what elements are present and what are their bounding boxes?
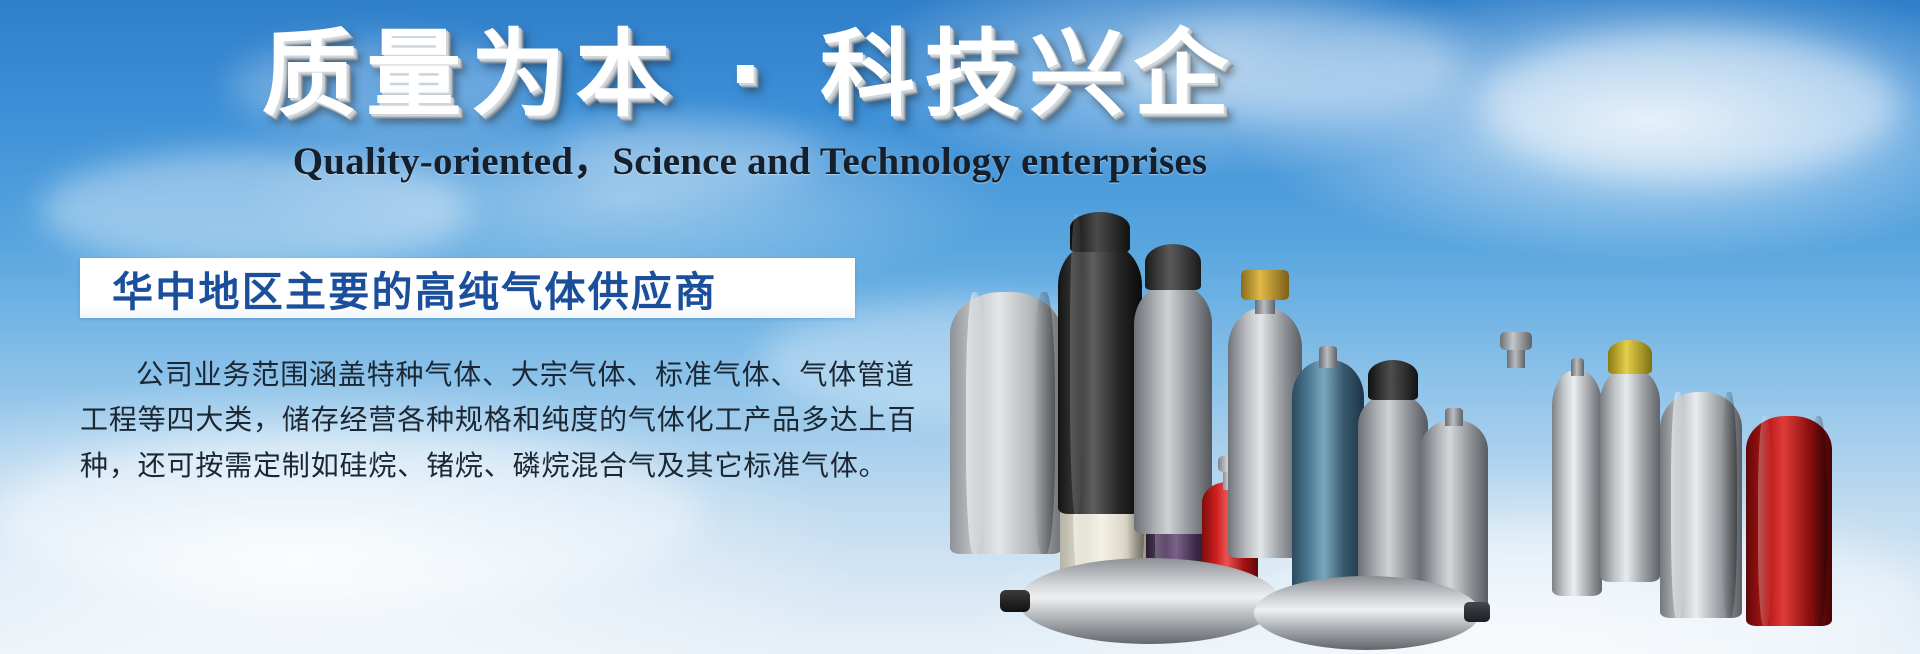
- headline-left: 质量为本: [262, 20, 680, 130]
- cylinder-darkred: [1746, 416, 1832, 626]
- cylinder-teal: [1292, 336, 1364, 594]
- cylinder-black-tall: [1058, 214, 1142, 514]
- gas-cylinders-photo: [940, 150, 1920, 654]
- cylinder-silver-tall: [1228, 264, 1302, 558]
- cylinder-blue: [1480, 332, 1552, 600]
- cylinder-aluminium-yellowcap: [1600, 326, 1660, 582]
- cylinder-grey-mid: [1358, 360, 1428, 592]
- headline-separator: ·: [722, 24, 777, 127]
- description-line: 公司业务范围涵盖特种气体、大宗气体、标准气体、气体管道: [80, 352, 870, 397]
- cylinder-aluminium-large: [1660, 392, 1742, 618]
- description-line: 种，还可按需定制如硅烷、锗烷、磷烷混合气及其它标准气体。: [80, 443, 870, 488]
- description-line: 工程等四大类，储存经营各种规格和纯度的气体化工产品多达上百: [80, 397, 870, 442]
- cylinder-aluminium-slim: [1552, 346, 1602, 596]
- slogan-box: 华中地区主要的高纯气体供应商: [80, 258, 855, 318]
- headline-right: 科技兴企: [820, 20, 1238, 130]
- slogan-text: 华中地区主要的高纯气体供应商: [80, 258, 718, 318]
- banner-headline: 质量为本 · 科技兴企: [0, 24, 1500, 127]
- banner-description: 公司业务范围涵盖特种气体、大宗气体、标准气体、气体管道 工程等四大类，储存经营各…: [80, 352, 870, 488]
- hero-banner: 质量为本 · 科技兴企 Quality-oriented，Science and…: [0, 0, 1920, 654]
- cylinder-horizontal-tank-2: [1240, 576, 1490, 650]
- cylinder-grey-large: [950, 292, 1062, 554]
- cylinder-grey-valve: [1134, 244, 1212, 534]
